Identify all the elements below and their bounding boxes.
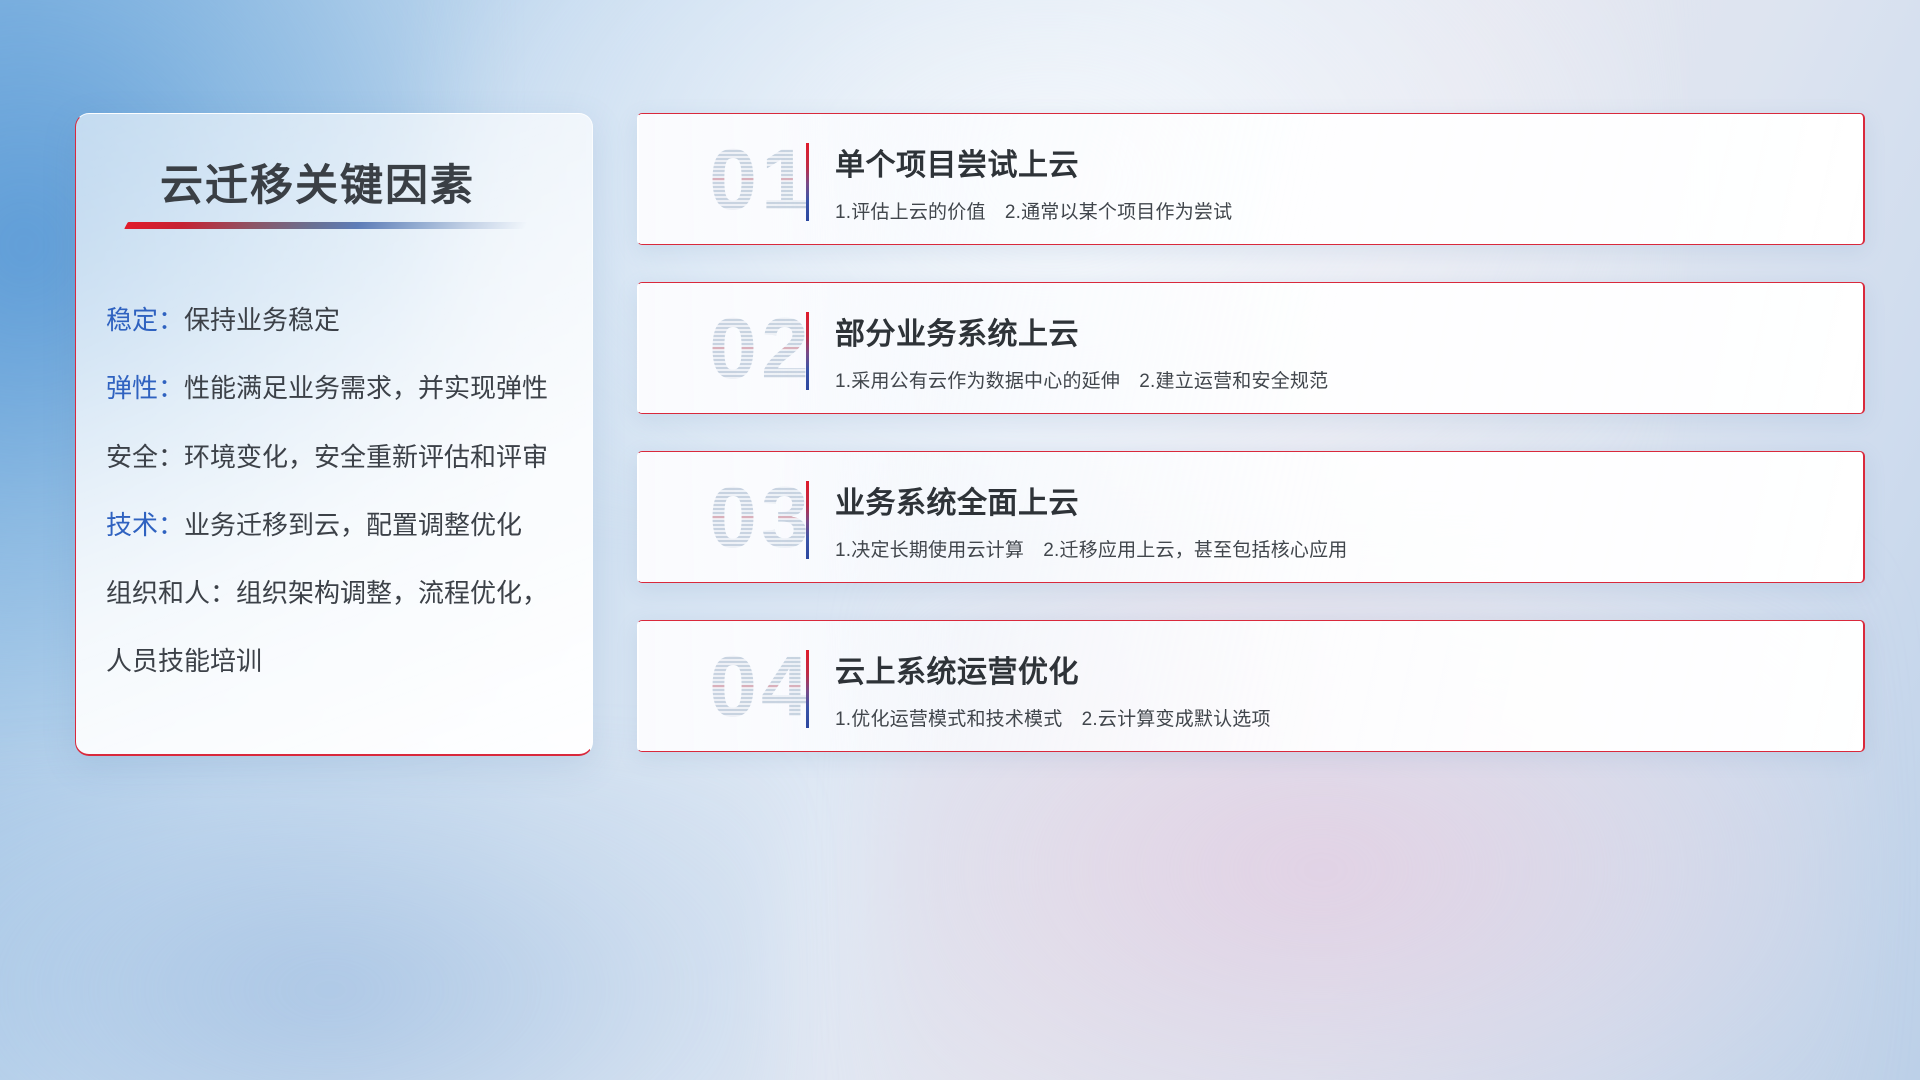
key-factor-line: 人员技能培训: [106, 645, 576, 678]
title-underline-accent: [124, 222, 528, 229]
panel-title: 云迁移关键因素: [160, 151, 475, 213]
key-factor-text: 业务迁移到云，配置调整优化: [184, 510, 522, 540]
key-factor-text: 保持业务稳定: [184, 305, 340, 335]
card-body: 单个项目尝试上云1.评估上云的价值 2.通常以某个项目作为尝试: [835, 140, 1839, 224]
card-title: 单个项目尝试上云: [835, 140, 1839, 184]
card-divider-accent: [806, 481, 809, 559]
migration-stage-card[interactable]: 0202部分业务系统上云1.采用公有云作为数据中心的延伸 2.建立运营和安全规范: [637, 282, 1865, 414]
migration-stage-card[interactable]: 0101单个项目尝试上云1.评估上云的价值 2.通常以某个项目作为尝试: [637, 113, 1865, 245]
key-factor-text: 人员技能培训: [106, 646, 262, 676]
key-factor-line: 安全：环境变化，安全重新评估和评审: [106, 441, 576, 474]
card-description: 1.决定长期使用云计算 2.迁移应用上云，甚至包括核心应用: [835, 535, 1839, 562]
card-description: 1.优化运营模式和技术模式 2.云计算变成默认选项: [835, 704, 1839, 731]
migration-stage-card[interactable]: 0404云上系统运营优化1.优化运营模式和技术模式 2.云计算变成默认选项: [637, 620, 1865, 752]
stage-number: 0202: [666, 295, 856, 403]
key-factors-panel: 云迁移关键因素 稳定：保持业务稳定弹性：性能满足业务需求，并实现弹性安全：环境变…: [75, 113, 593, 756]
key-factor-line: 组织和人：组织架构调整，流程优化，: [106, 577, 576, 610]
key-factor-label: 技术：: [106, 510, 184, 540]
key-factor-line: 稳定：保持业务稳定: [106, 304, 576, 337]
key-factor-text: 环境变化，安全重新评估和评审: [184, 442, 548, 472]
stage-number: 0303: [666, 464, 856, 572]
migration-stage-card-list: 0101单个项目尝试上云1.评估上云的价值 2.通常以某个项目作为尝试0202部…: [637, 113, 1865, 789]
key-factor-label: 安全：: [106, 442, 184, 472]
slide-stage: 云迁移关键因素 稳定：保持业务稳定弹性：性能满足业务需求，并实现弹性安全：环境变…: [0, 0, 1920, 1080]
card-title: 云上系统运营优化: [835, 647, 1839, 691]
key-factor-text: 性能满足业务需求，并实现弹性: [184, 373, 548, 403]
card-body: 业务系统全面上云1.决定长期使用云计算 2.迁移应用上云，甚至包括核心应用: [835, 478, 1839, 562]
stage-number: 0404: [666, 633, 856, 741]
stage-number: 0101: [666, 126, 856, 234]
key-factor-line: 技术：业务迁移到云，配置调整优化: [106, 509, 576, 542]
card-description: 1.评估上云的价值 2.通常以某个项目作为尝试: [835, 197, 1839, 224]
card-body: 部分业务系统上云1.采用公有云作为数据中心的延伸 2.建立运营和安全规范: [835, 309, 1839, 393]
key-factor-label: 组织和人：: [106, 578, 236, 608]
key-factors-list: 稳定：保持业务稳定弹性：性能满足业务需求，并实现弹性安全：环境变化，安全重新评估…: [106, 304, 576, 714]
stage-number-glitch-overlay: 01: [666, 126, 856, 234]
card-divider-accent: [806, 650, 809, 728]
card-body: 云上系统运营优化1.优化运营模式和技术模式 2.云计算变成默认选项: [835, 647, 1839, 731]
card-title: 部分业务系统上云: [835, 309, 1839, 353]
card-title: 业务系统全面上云: [835, 478, 1839, 522]
stage-number-glitch-overlay: 04: [666, 633, 856, 741]
card-divider-accent: [806, 312, 809, 390]
card-description: 1.采用公有云作为数据中心的延伸 2.建立运营和安全规范: [835, 366, 1839, 393]
stage-number-glitch-overlay: 02: [666, 295, 856, 403]
key-factor-text: 组织架构调整，流程优化，: [236, 578, 548, 608]
key-factor-label: 弹性：: [106, 373, 184, 403]
card-divider-accent: [806, 143, 809, 221]
migration-stage-card[interactable]: 0303业务系统全面上云1.决定长期使用云计算 2.迁移应用上云，甚至包括核心应…: [637, 451, 1865, 583]
key-factor-label: 稳定：: [106, 305, 184, 335]
key-factor-line: 弹性：性能满足业务需求，并实现弹性: [106, 372, 576, 405]
stage-number-glitch-overlay: 03: [666, 464, 856, 572]
